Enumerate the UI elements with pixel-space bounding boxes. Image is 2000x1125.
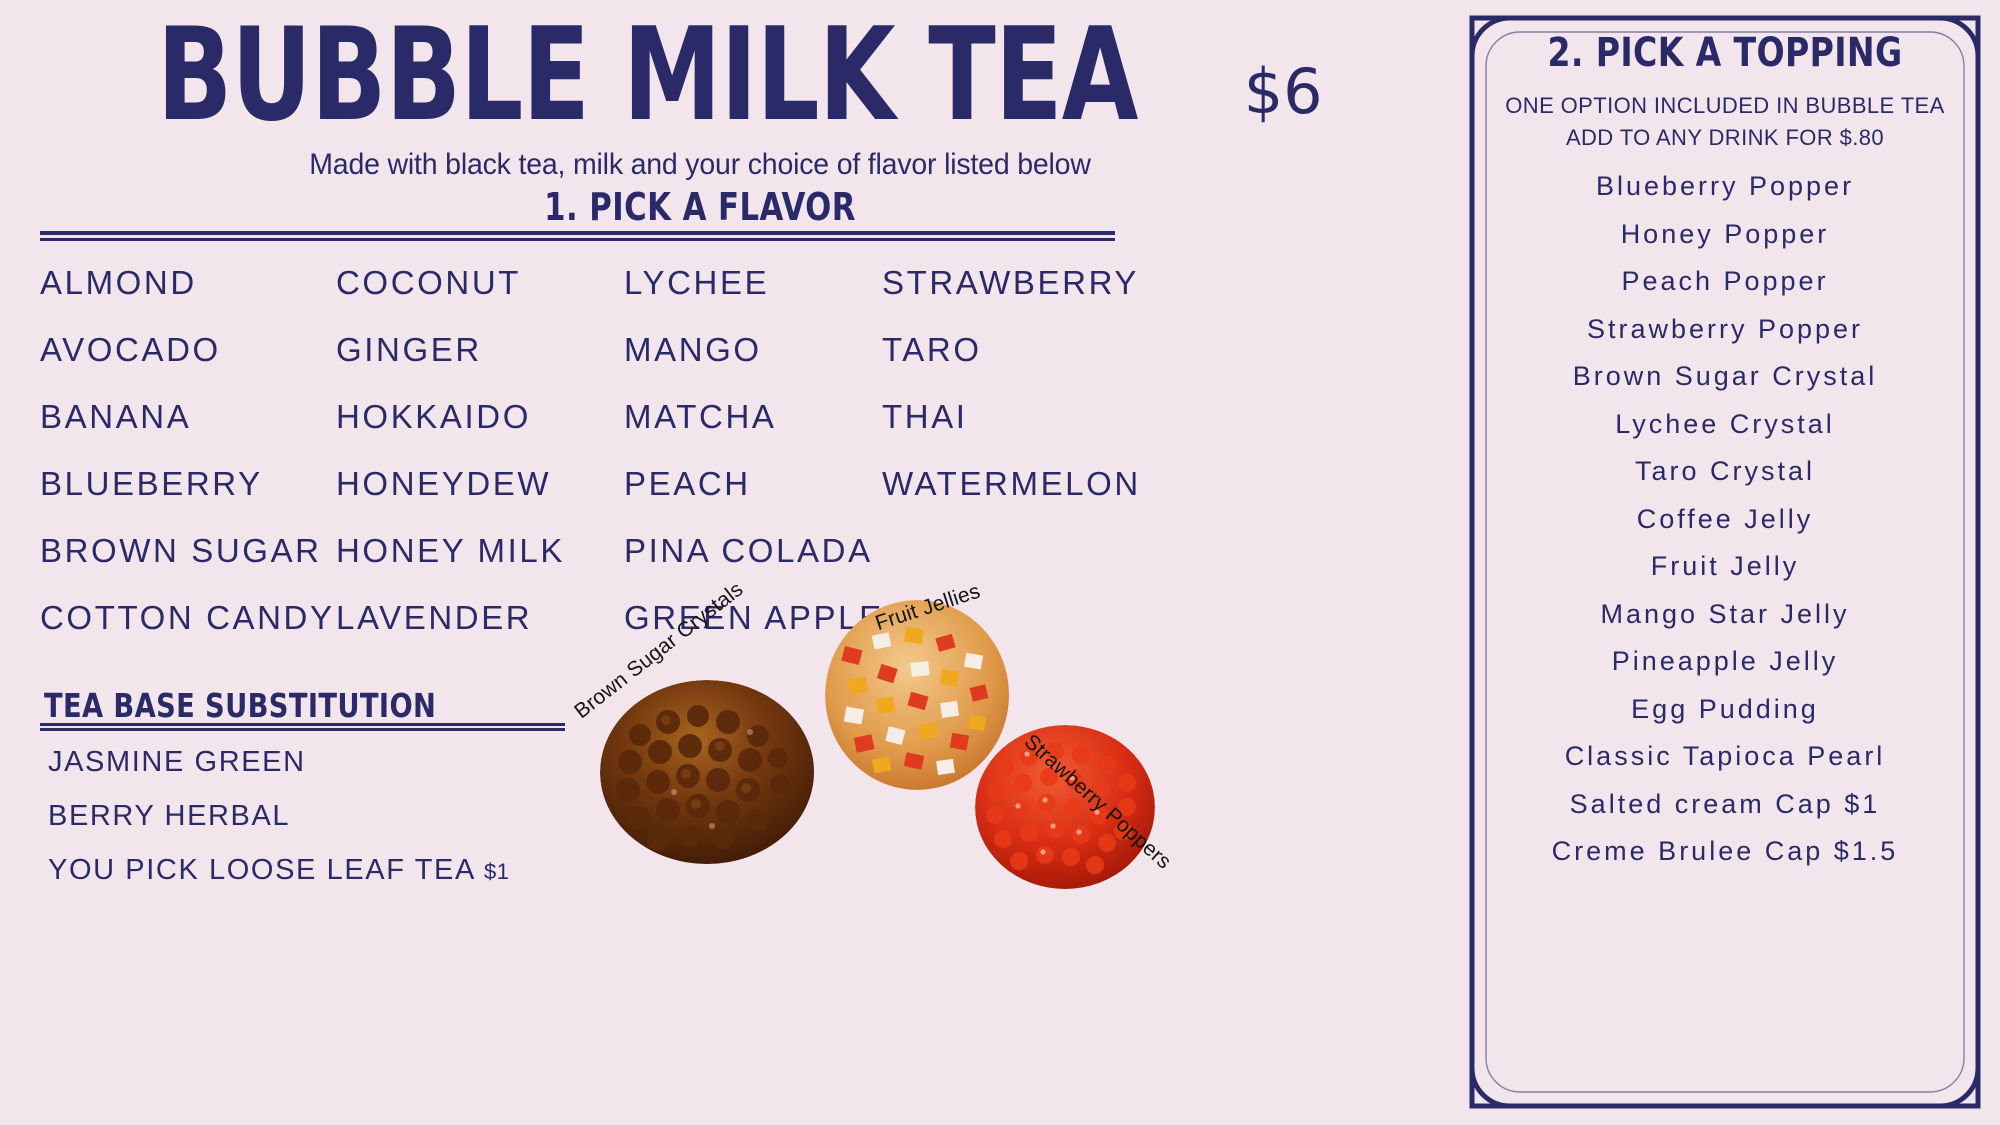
topping-item[interactable]: Peach Popper xyxy=(1462,258,1988,306)
flavor-item[interactable]: HONEYDEW xyxy=(336,450,624,517)
flavor-item[interactable]: ALMOND xyxy=(40,249,336,316)
flavor-item[interactable]: GINGER xyxy=(336,316,624,383)
flavor-column-4: STRAWBERRY TARO THAI WATERMELON xyxy=(882,249,1150,651)
topping-item[interactable]: Lychee Crystal xyxy=(1462,401,1988,449)
flavor-item[interactable]: THAI xyxy=(882,383,1150,450)
flavor-item[interactable]: MANGO xyxy=(624,316,882,383)
tea-base-divider xyxy=(40,723,565,732)
topping-item[interactable]: Fruit Jelly xyxy=(1462,543,1988,591)
topping-item[interactable]: Brown Sugar Crystal xyxy=(1462,353,1988,401)
tea-base-heading: TEA BASE SUBSTITUTION xyxy=(44,686,436,725)
page-title: BUBBLE MILK TEA xyxy=(157,12,1138,140)
title-row: BUBBLE MILK TEA $6 xyxy=(0,12,1400,140)
flavor-item[interactable]: LAVENDER xyxy=(336,584,624,651)
topping-item[interactable]: Creme Brulee Cap $1.5 xyxy=(1462,828,1988,876)
strawberry-poppers-photo xyxy=(975,725,1155,890)
topping-panel: 2. PICK A TOPPING ONE OPTION INCLUDED IN… xyxy=(1462,8,1988,1116)
topping-item[interactable]: Honey Popper xyxy=(1462,211,1988,259)
tea-base-name: JASMINE GREEN xyxy=(48,746,306,778)
flavor-item[interactable]: BROWN SUGAR xyxy=(40,517,336,584)
flavor-section-heading: 1. PICK A FLAVOR xyxy=(70,185,1330,229)
tea-base-list: JASMINE GREEN BERRY HERBAL YOU PICK LOOS… xyxy=(48,735,688,897)
flavor-columns: ALMOND AVOCADO BANANA BLUEBERRY BROWN SU… xyxy=(40,249,1150,651)
topping-item[interactable]: Taro Crystal xyxy=(1462,448,1988,496)
flavor-item[interactable]: STRAWBERRY xyxy=(882,249,1150,316)
flavor-item[interactable]: BANANA xyxy=(40,383,336,450)
topping-item[interactable]: Coffee Jelly xyxy=(1462,496,1988,544)
flavor-divider xyxy=(40,231,1115,241)
drink-price: $6 xyxy=(1244,55,1323,128)
flavor-item[interactable]: PINA COLADA xyxy=(624,517,882,584)
flavor-item[interactable]: LYCHEE xyxy=(624,249,882,316)
flavor-column-3: LYCHEE MANGO MATCHA PEACH PINA COLADA GR… xyxy=(624,249,882,651)
topping-item[interactable]: Blueberry Popper xyxy=(1462,163,1988,211)
topping-item[interactable]: Strawberry Popper xyxy=(1462,306,1988,354)
topping-item[interactable]: Salted cream Cap $1 xyxy=(1462,781,1988,829)
flavor-item[interactable]: COTTON CANDY xyxy=(40,584,336,651)
topping-note-addon: ADD TO ANY DRINK FOR $.80 xyxy=(1462,125,1988,151)
flavor-item[interactable]: MATCHA xyxy=(624,383,882,450)
menu-board: BUBBLE MILK TEA $6 Made with black tea, … xyxy=(0,0,2000,1125)
flavor-panel: BUBBLE MILK TEA $6 Made with black tea, … xyxy=(0,0,1470,1125)
fruit-jellies-photo xyxy=(825,600,1010,790)
topping-item[interactable]: Pineapple Jelly xyxy=(1462,638,1988,686)
flavor-item[interactable]: WATERMELON xyxy=(882,450,1150,517)
topping-list: Blueberry Popper Honey Popper Peach Popp… xyxy=(1462,163,1988,876)
flavor-item[interactable]: HOKKAIDO xyxy=(336,383,624,450)
flavor-item[interactable]: AVOCADO xyxy=(40,316,336,383)
flavor-item[interactable]: BLUEBERRY xyxy=(40,450,336,517)
topping-item[interactable]: Egg Pudding xyxy=(1462,686,1988,734)
flavor-item[interactable]: PEACH xyxy=(624,450,882,517)
tea-base-name: BERRY HERBAL xyxy=(48,800,290,832)
topping-item[interactable]: Classic Tapioca Pearl xyxy=(1462,733,1988,781)
tea-base-price: $1 xyxy=(484,859,509,884)
tea-base-item[interactable]: BERRY HERBAL xyxy=(48,789,688,843)
flavor-item[interactable]: TARO xyxy=(882,316,1150,383)
flavor-column-2: COCONUT GINGER HOKKAIDO HONEYDEW HONEY M… xyxy=(336,249,624,651)
brown-sugar-crystals-photo xyxy=(600,680,815,865)
flavor-column-1: ALMOND AVOCADO BANANA BLUEBERRY BROWN SU… xyxy=(40,249,336,651)
drink-subtitle: Made with black tea, milk and your choic… xyxy=(35,148,1365,182)
topping-section-heading: 2. PICK A TOPPING xyxy=(1483,30,1967,76)
flavor-item[interactable]: COCONUT xyxy=(336,249,624,316)
tea-base-item[interactable]: JASMINE GREEN xyxy=(48,735,688,789)
tea-base-name: YOU PICK LOOSE LEAF TEA xyxy=(48,854,474,886)
flavor-item[interactable]: HONEY MILK xyxy=(336,517,624,584)
tea-base-item[interactable]: YOU PICK LOOSE LEAF TEA $1 xyxy=(48,843,688,897)
topping-note-included: ONE OPTION INCLUDED IN BUBBLE TEA xyxy=(1462,93,1988,119)
topping-item[interactable]: Mango Star Jelly xyxy=(1462,591,1988,639)
